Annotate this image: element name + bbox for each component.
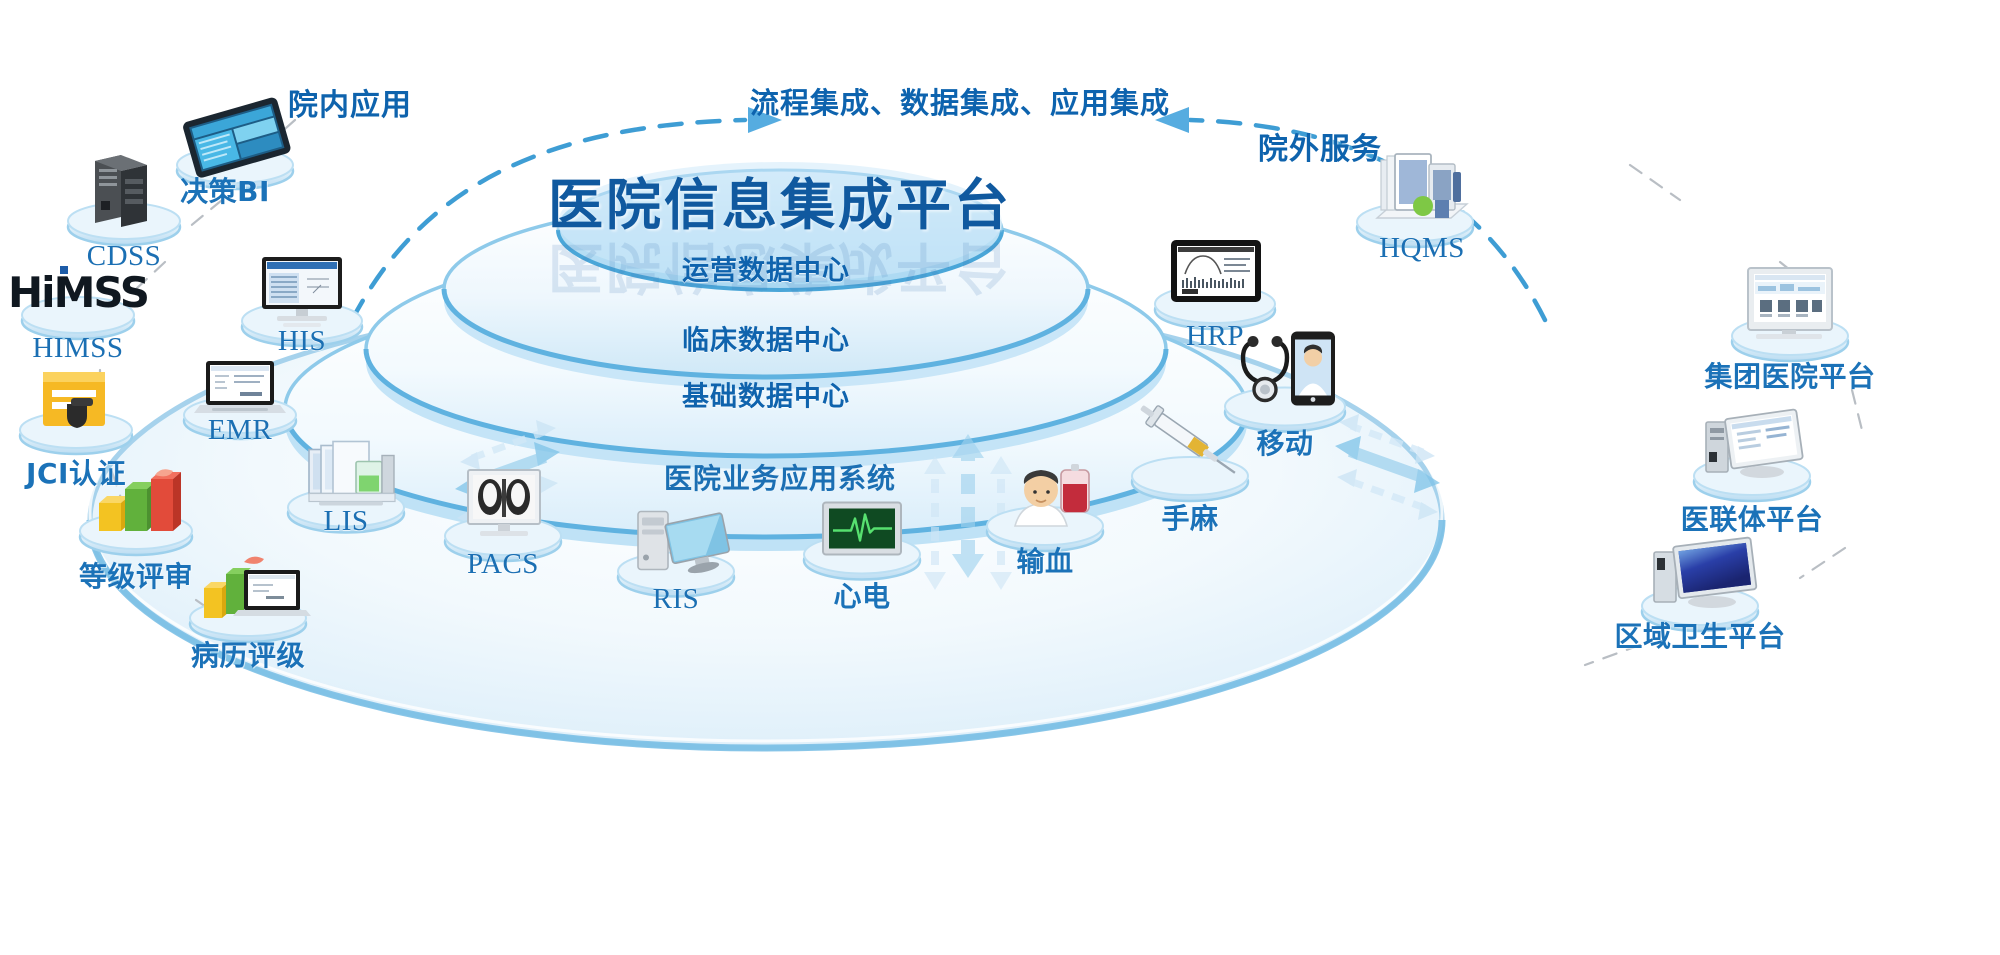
- node-himss[interactable]: HiMSS: [0, 245, 168, 345]
- tier-label-cdr: 临床数据中心: [682, 319, 850, 358]
- platform-title: 医院信息集成平台: [548, 160, 1012, 240]
- node-label-hrp: HRP: [1186, 320, 1244, 353]
- node-cdss[interactable]: [39, 143, 209, 253]
- node-label-regional-platform: 区域卫生平台: [1614, 615, 1785, 655]
- node-ecg[interactable]: [777, 473, 947, 588]
- svg-text:HiMSS: HiMSS: [8, 268, 148, 317]
- node-alliance-platform[interactable]: [1662, 390, 1842, 510]
- node-label-group-platform: 集团医院平台: [1704, 355, 1875, 395]
- ecg-monitor-icon: [777, 473, 947, 588]
- desktop-pc-icon: [1662, 390, 1842, 510]
- node-jci[interactable]: [0, 350, 161, 460]
- diagram-canvas: 院内应用 院外服务 流程集成、数据集成、应用集成 医院信息集成平台 医院信息集成…: [0, 0, 2000, 955]
- himss-logo-icon: HiMSS: [0, 245, 168, 345]
- node-label-mobile: 移动: [1256, 422, 1313, 462]
- node-label-hqms: HQMS: [1379, 232, 1465, 265]
- node-group-platform[interactable]: [1700, 250, 1880, 370]
- node-label-ris: RIS: [653, 583, 700, 616]
- tier-label-bdr: 基础数据中心: [682, 375, 850, 414]
- server-rack-icon: [39, 143, 209, 253]
- crt-monitor-icon: [1700, 250, 1880, 370]
- node-label-record-grading: 病历评级: [191, 634, 305, 674]
- node-label-ecg: 心电: [833, 575, 890, 615]
- tier-label-odr: 运营数据中心: [682, 249, 850, 288]
- certificate-seal-icon: [0, 350, 161, 460]
- node-label-anesthesia: 手麻: [1161, 497, 1218, 537]
- integration-arc-label: 流程集成、数据集成、应用集成: [750, 80, 1170, 122]
- node-label-blood: 输血: [1016, 540, 1073, 580]
- node-label-pacs: PACS: [467, 548, 539, 581]
